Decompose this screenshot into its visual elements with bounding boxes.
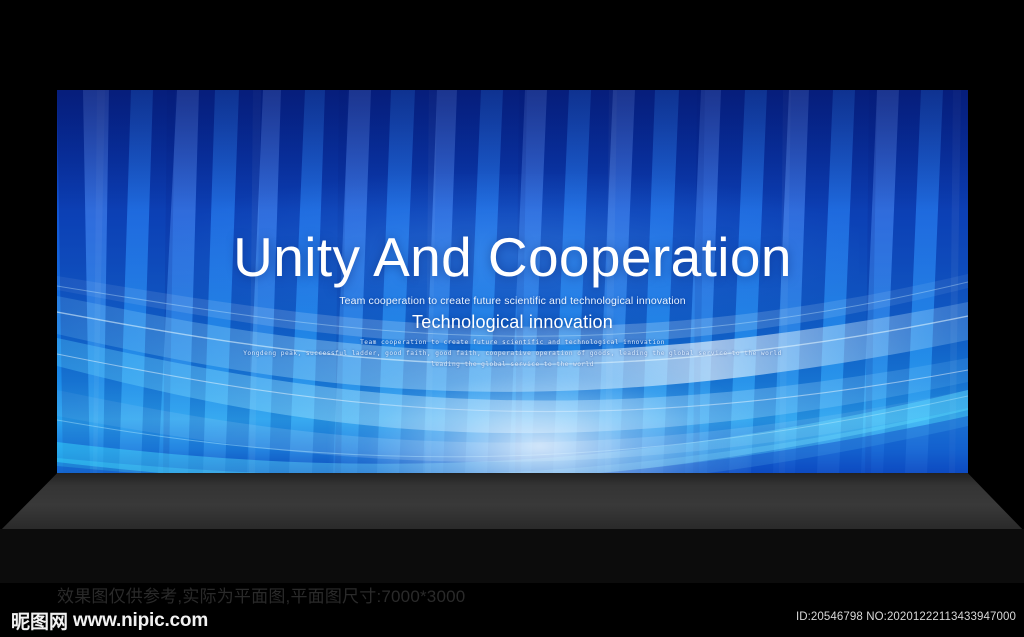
asset-id-line: ID:20546798 NO:20201222113433947000: [796, 611, 1016, 623]
watermark-brand-cn: 昵图网: [11, 607, 68, 634]
site-watermark: 昵图网 www.nipic.com: [11, 607, 208, 634]
vertical-ribbon-texture: [57, 90, 968, 473]
stage-floor-shading: [0, 473, 1024, 531]
backdrop-banner: Unity And Cooperation Team cooperation t…: [57, 90, 968, 473]
foreground-dark-area: [0, 529, 1024, 583]
disclaimer-caption: 效果图仅供参考,实际为平面图,平面图尺寸:7000*3000: [57, 582, 465, 607]
watermark-url: www.nipic.com: [73, 610, 208, 632]
stage-mockup-canvas: Unity And Cooperation Team cooperation t…: [0, 0, 1024, 637]
